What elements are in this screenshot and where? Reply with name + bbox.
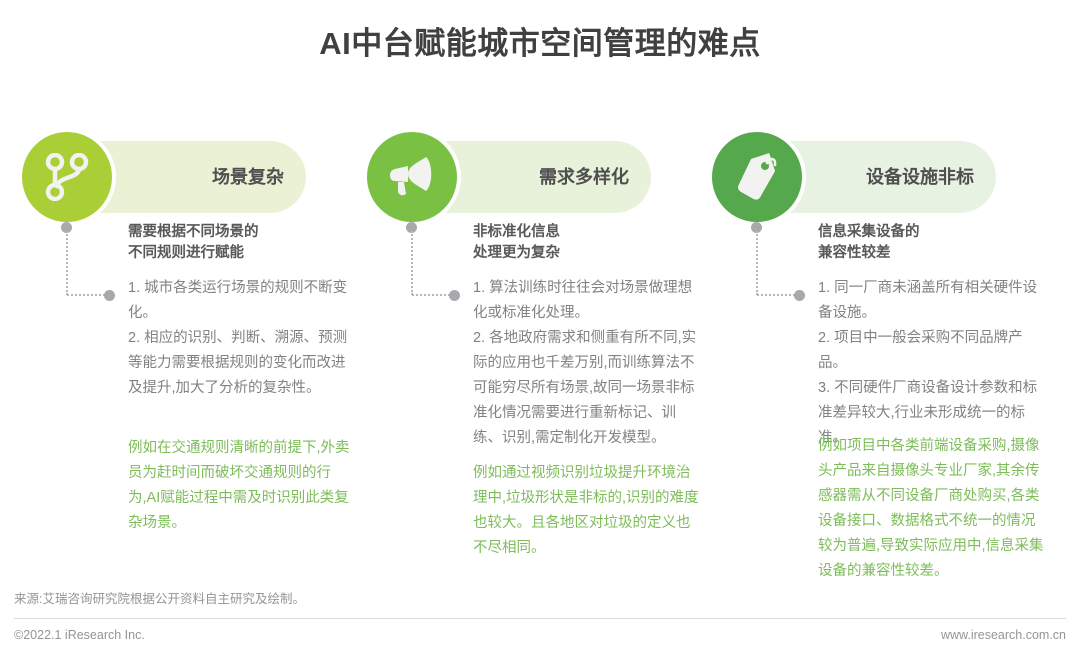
source-note: 来源:艾瑞咨询研究院根据公开资料自主研究及绘制。 bbox=[14, 588, 305, 607]
pill-label-1: 场景复杂 bbox=[212, 141, 284, 213]
icon-circle-3 bbox=[708, 128, 806, 226]
card-example-3: 例如项目中各类前端设备采购,摄像头产品来自摄像头专业厂家,其余传感器需从不同设备… bbox=[818, 434, 1046, 584]
connector-line-horizontal-1 bbox=[67, 294, 105, 296]
connector-line-vertical-1 bbox=[66, 231, 68, 295]
connector-line-horizontal-3 bbox=[757, 294, 795, 296]
connector-line-vertical-3 bbox=[756, 231, 758, 295]
card-body-3: 1. 同一厂商未涵盖所有相关硬件设备设施。 2. 项目中一般会采购不同品牌产品。… bbox=[818, 276, 1046, 451]
pill-label-2: 需求多样化 bbox=[539, 141, 629, 213]
difficulty-card-1: 场景复杂 需要根据不同场景的 不同规则进行赋能 1. 城市各类运行场景的规则不断… bbox=[10, 128, 355, 568]
card-body-1: 1. 城市各类运行场景的规则不断变化。 2. 相应的识别、判断、溯源、预测等能力… bbox=[128, 276, 356, 401]
difficulty-card-3: 设备设施非标 信息采集设备的 兼容性较差 1. 同一厂商未涵盖所有相关硬件设备设… bbox=[700, 128, 1045, 568]
connector-dot-bottom-1 bbox=[104, 290, 115, 301]
price-tag-icon bbox=[732, 152, 782, 202]
difficulty-card-2: 需求多样化 非标准化信息 处理更为复杂 1. 算法训练时往往会对场景做理想化或标… bbox=[355, 128, 700, 568]
page-title: AI中台赋能城市空间管理的难点 bbox=[0, 18, 1080, 63]
card-subtitle-2: 非标准化信息 处理更为复杂 bbox=[473, 222, 698, 264]
columns-container: 场景复杂 需要根据不同场景的 不同规则进行赋能 1. 城市各类运行场景的规则不断… bbox=[0, 128, 1080, 568]
connector-line-vertical-2 bbox=[411, 231, 413, 295]
card-subtitle-1: 需要根据不同场景的 不同规则进行赋能 bbox=[128, 222, 353, 264]
card-example-2: 例如通过视频识别垃圾提升环境治理中,垃圾形状是非标的,识别的难度也较大。且各地区… bbox=[473, 461, 701, 561]
connector-dot-bottom-2 bbox=[449, 290, 460, 301]
branch-fork-icon bbox=[44, 153, 90, 201]
megaphone-icon bbox=[386, 153, 438, 201]
connector-line-horizontal-2 bbox=[412, 294, 450, 296]
card-body-2: 1. 算法训练时往往会对场景做理想化或标准化处理。 2. 各地政府需求和侧重有所… bbox=[473, 276, 701, 451]
footer-divider bbox=[14, 618, 1066, 619]
website-url: www.iresearch.com.cn bbox=[941, 628, 1066, 642]
pill-label-3: 设备设施非标 bbox=[866, 141, 974, 213]
connector-dot-bottom-3 bbox=[794, 290, 805, 301]
icon-circle-2 bbox=[363, 128, 461, 226]
copyright-text: ©2022.1 iResearch Inc. bbox=[14, 628, 145, 642]
card-subtitle-3: 信息采集设备的 兼容性较差 bbox=[818, 222, 1043, 264]
icon-circle-1 bbox=[18, 128, 116, 226]
card-example-1: 例如在交通规则清晰的前提下,外卖员为赶时间而破坏交通规则的行为,AI赋能过程中需… bbox=[128, 436, 356, 536]
